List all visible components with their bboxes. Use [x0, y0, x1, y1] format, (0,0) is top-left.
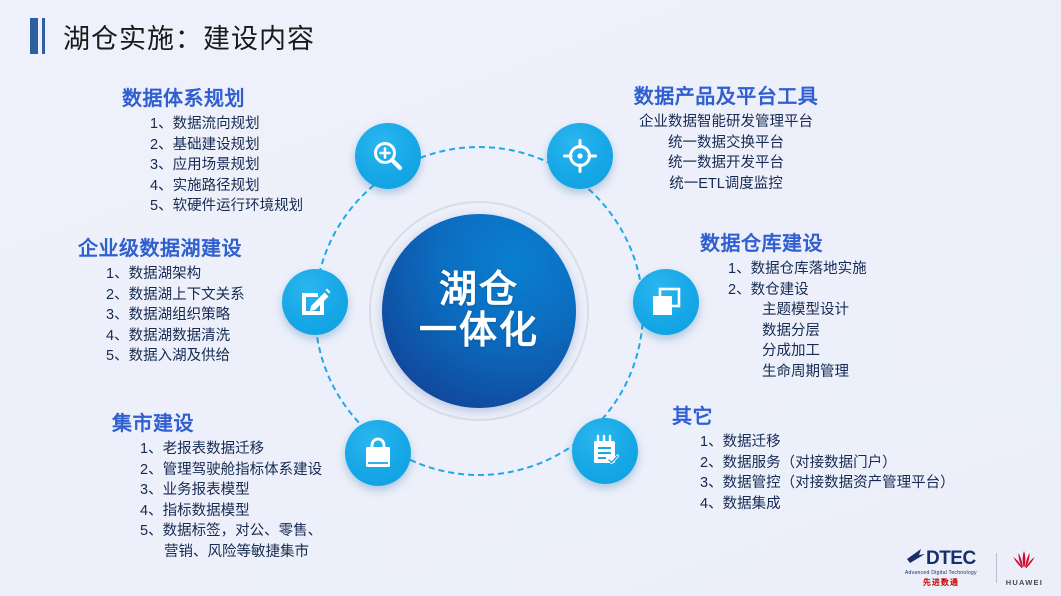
page-title-text: 湖仓实施：建设内容	[63, 17, 315, 56]
list-item: 4、数据湖数据清洗	[106, 326, 245, 347]
block-data-product-heading: 数据产品及平台工具	[596, 80, 856, 109]
block-data-product-list: 企业数据智能研发管理平台 统一数据交换平台 统一数据开发平台 统一ETL调度监控	[596, 112, 856, 194]
node-data-system[interactable]	[355, 123, 421, 189]
huawei-flower-icon	[1009, 550, 1039, 577]
list-item: 3、数据管控（对接数据资产管理平台）	[700, 473, 955, 494]
block-other-list: 1、数据迁移 2、数据服务（对接数据门户） 3、数据管控（对接数据资产管理平台）…	[672, 432, 955, 514]
block-data-product: 数据产品及平台工具 企业数据智能研发管理平台 统一数据交换平台 统一数据开发平台…	[596, 80, 856, 194]
list-item-continuation: 营销、风险等敏捷集市	[140, 542, 322, 563]
dtec-logo: DTEC Advanced Digital Technology 先进数通	[905, 548, 987, 588]
list-subitem: 生命周期管理	[728, 362, 867, 383]
node-market[interactable]	[345, 420, 411, 486]
block-data-warehouse-list: 1、数据仓库落地实施 2、数仓建设 主题模型设计 数据分层 分成加工 生命周期管…	[700, 259, 867, 382]
block-data-system-heading: 数据体系规划	[122, 82, 303, 111]
crosshair-target-icon	[563, 139, 597, 173]
block-data-lake-list: 1、数据湖架构 2、数据湖上下文关系 3、数据湖组织策略 4、数据湖数据清洗 5…	[78, 264, 245, 367]
block-data-lake: 企业级数据湖建设 1、数据湖架构 2、数据湖上下文关系 3、数据湖组织策略 4、…	[78, 232, 245, 367]
list-item: 统一ETL调度监控	[596, 174, 856, 195]
block-market-list: 1、老报表数据迁移 2、管理驾驶舱指标体系建设 3、业务报表模型 4、指标数据模…	[112, 439, 322, 562]
center-hub-line2: 一体化	[419, 311, 539, 352]
list-item: 5、数据入湖及供给	[106, 346, 245, 367]
block-other-heading: 其它	[672, 400, 955, 429]
list-item: 4、数据集成	[700, 494, 955, 515]
dtec-wordmark: DTEC	[926, 549, 976, 568]
footer-logos: DTEC Advanced Digital Technology 先进数通 HU…	[905, 548, 1043, 588]
list-item: 3、应用场景规划	[150, 155, 303, 176]
shopping-bag-icon	[362, 436, 394, 470]
title-accent-bars-icon	[30, 18, 45, 54]
block-data-lake-heading: 企业级数据湖建设	[78, 232, 245, 261]
block-data-warehouse-heading: 数据仓库建设	[700, 227, 867, 256]
dtec-tagline: Advanced Digital Technology	[905, 570, 977, 576]
list-item: 4、指标数据模型	[140, 501, 322, 522]
list-subitem: 分成加工	[728, 341, 867, 362]
huawei-logo: HUAWEI	[1006, 550, 1043, 587]
list-item: 3、业务报表模型	[140, 480, 322, 501]
list-item: 统一数据开发平台	[596, 153, 856, 174]
node-data-lake[interactable]	[282, 269, 348, 335]
list-item: 2、数据湖上下文关系	[106, 285, 245, 306]
dtec-chinese-name: 先进数通	[923, 577, 959, 588]
block-data-warehouse: 数据仓库建设 1、数据仓库落地实施 2、数仓建设 主题模型设计 数据分层 分成加…	[700, 227, 867, 382]
list-item: 5、软硬件运行环境规划	[150, 196, 303, 217]
list-item: 2、数据服务（对接数据门户）	[700, 453, 955, 474]
list-item: 4、实施路径规划	[150, 176, 303, 197]
list-item: 企业数据智能研发管理平台	[596, 112, 856, 133]
list-subitem: 数据分层	[728, 321, 867, 342]
list-item: 3、数据湖组织策略	[106, 305, 245, 326]
huawei-wordmark: HUAWEI	[1006, 578, 1043, 587]
block-data-system: 数据体系规划 1、数据流向规划 2、基础建设规划 3、应用场景规划 4、实施路径…	[122, 82, 303, 217]
dtec-arrow-icon	[906, 548, 926, 569]
list-item: 1、数据迁移	[700, 432, 955, 453]
list-item: 统一数据交换平台	[596, 133, 856, 154]
block-market-heading: 集市建设	[112, 407, 322, 436]
center-hub-circle: 湖仓 一体化	[382, 214, 576, 408]
notepad-check-icon	[589, 434, 621, 468]
list-item: 5、数据标签，对公、零售、	[140, 521, 322, 542]
magnifier-plus-icon	[371, 139, 405, 173]
block-data-system-list: 1、数据流向规划 2、基础建设规划 3、应用场景规划 4、实施路径规划 5、软硬…	[122, 114, 303, 217]
slide-canvas: 湖仓实施：建设内容 湖仓 一体化	[0, 0, 1061, 596]
list-item: 1、数据湖架构	[106, 264, 245, 285]
node-data-warehouse[interactable]	[633, 269, 699, 335]
list-item: 1、数据仓库落地实施	[728, 259, 867, 280]
edit-pencil-square-icon	[298, 285, 332, 319]
list-item: 2、基础建设规划	[150, 135, 303, 156]
node-other[interactable]	[572, 418, 638, 484]
list-subitem: 主题模型设计	[728, 300, 867, 321]
page-title: 湖仓实施：建设内容	[30, 14, 315, 58]
center-hub-line1: 湖仓	[439, 270, 519, 311]
list-item: 2、数仓建设	[728, 280, 867, 301]
list-item: 2、管理驾驶舱指标体系建设	[140, 460, 322, 481]
block-other: 其它 1、数据迁移 2、数据服务（对接数据门户） 3、数据管控（对接数据资产管理…	[672, 400, 955, 514]
block-market: 集市建设 1、老报表数据迁移 2、管理驾驶舱指标体系建设 3、业务报表模型 4、…	[112, 407, 322, 562]
list-item: 1、老报表数据迁移	[140, 439, 322, 460]
logo-divider	[996, 553, 997, 583]
list-item: 1、数据流向规划	[150, 114, 303, 135]
copy-layers-icon	[650, 286, 682, 318]
